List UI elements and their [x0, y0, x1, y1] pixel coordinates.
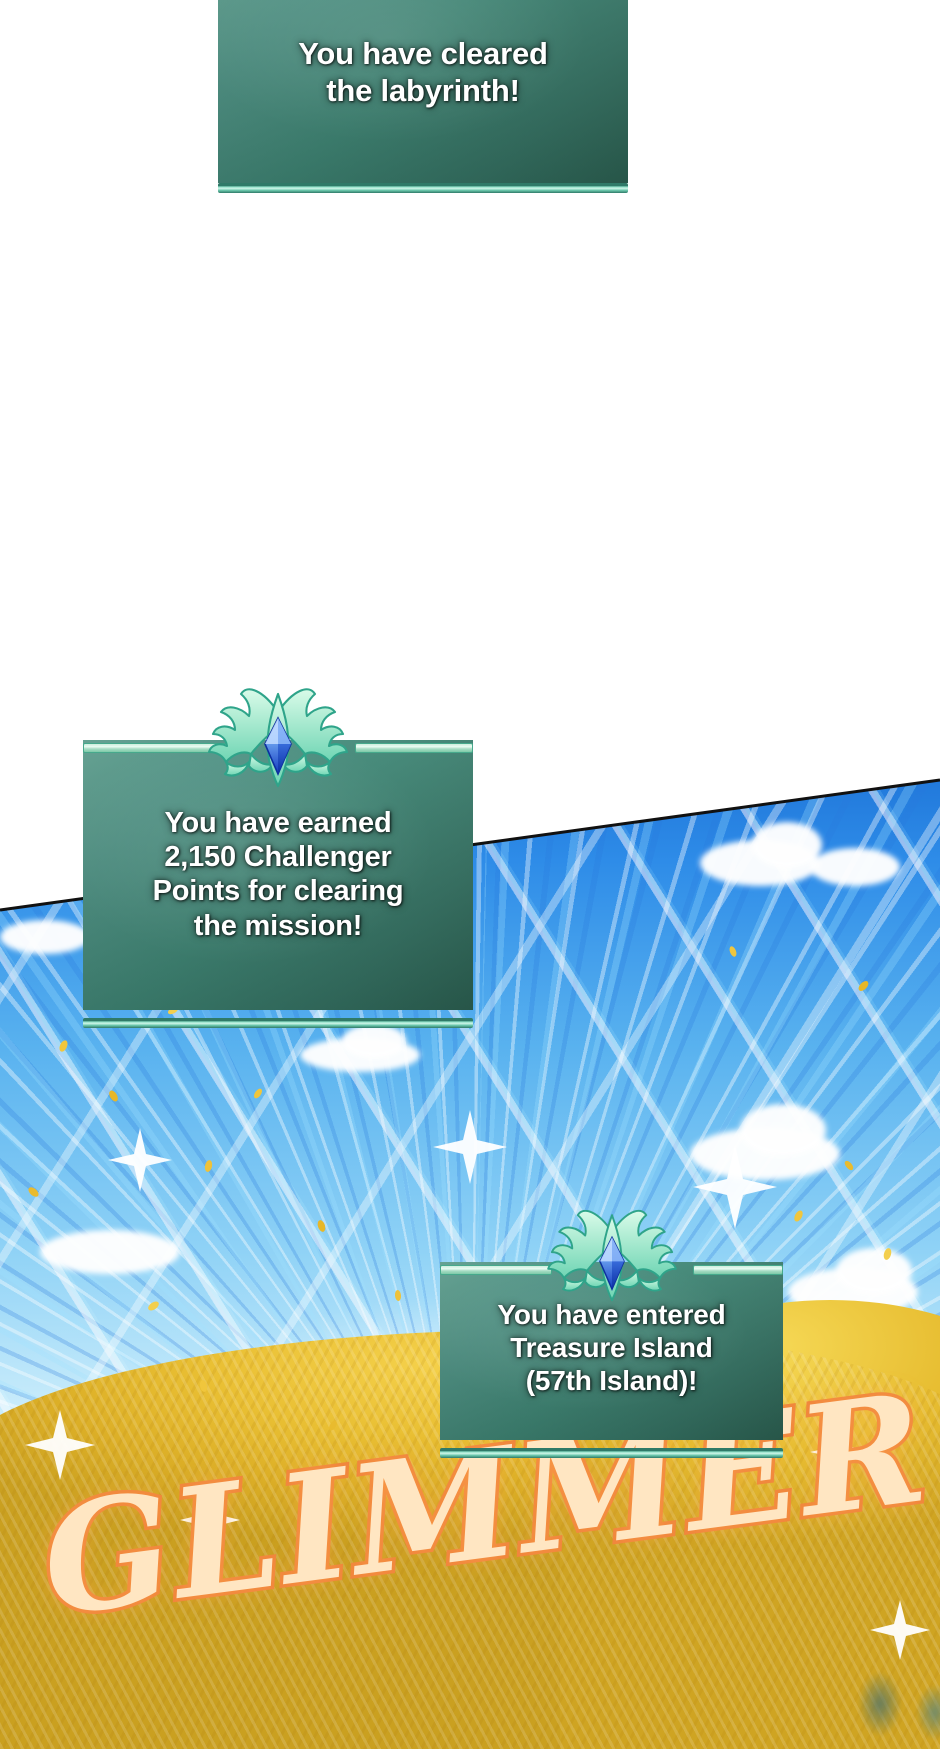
panel-cleared-labyrinth-box: You have cleared the labyrinth!: [218, 0, 628, 183]
panel-entered-island-bottom-rail: [440, 1448, 783, 1458]
panel-cleared-labyrinth-bottom-rail: [218, 183, 628, 193]
ornament-svg: [526, 1204, 698, 1304]
dragon-wing-gem-ornament: [526, 1204, 698, 1309]
panel-line: Treasure Island: [450, 1331, 773, 1364]
panel-line: 2,150 Challenger: [93, 840, 463, 874]
panel-line: You have earned: [93, 806, 463, 840]
panel-cleared-labyrinth: You have cleared the labyrinth!: [218, 0, 628, 183]
panel-entered-island: You have entered Treasure Island (57th I…: [440, 1262, 783, 1440]
panel-line: You have cleared: [228, 36, 618, 73]
panel-line: the mission!: [93, 909, 463, 943]
panel-challenger-points-top-rail: [83, 740, 473, 756]
panel-challenger-points-text: You have earned 2,150 Challenger Points …: [83, 806, 473, 943]
panel-challenger-points: You have earned 2,150 Challenger Points …: [83, 740, 473, 1010]
panel-line: Points for clearing: [93, 874, 463, 908]
panel-challenger-points-bottom-rail: [83, 1018, 473, 1028]
panel-entered-island-text: You have entered Treasure Island (57th I…: [440, 1298, 783, 1397]
panel-line: (57th Island)!: [450, 1364, 773, 1397]
rail-bar-right: [355, 743, 473, 753]
dragon-wing-gem-ornament: [185, 682, 371, 795]
panel-line: the labyrinth!: [228, 73, 618, 110]
panel-entered-island-top-rail: [440, 1262, 783, 1278]
rail-bar-right: [693, 1265, 783, 1275]
ornament-svg: [185, 682, 371, 790]
panel-cleared-labyrinth-text: You have cleared the labyrinth!: [218, 36, 628, 109]
